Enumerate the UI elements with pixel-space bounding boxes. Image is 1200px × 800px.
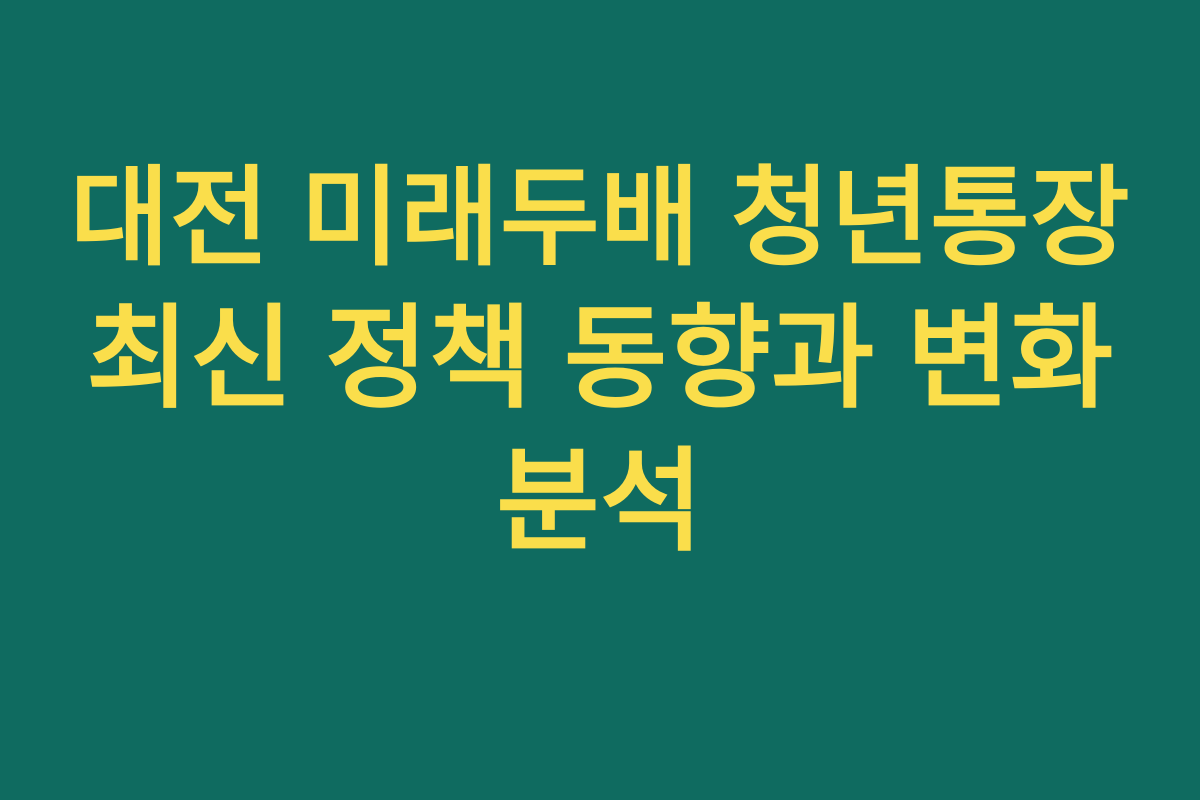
- title-line-1: 대전 미래두배 청년통장: [70, 149, 1130, 287]
- page-title: 대전 미래두배 청년통장 최신 정책 동향과 변화 분석: [70, 149, 1130, 574]
- title-line-3: 분석: [70, 430, 1130, 573]
- title-line-2: 최신 정책 동향과 변화: [70, 287, 1130, 430]
- thumbnail-card: 대전 미래두배 청년통장 최신 정책 동향과 변화 분석: [0, 0, 1200, 800]
